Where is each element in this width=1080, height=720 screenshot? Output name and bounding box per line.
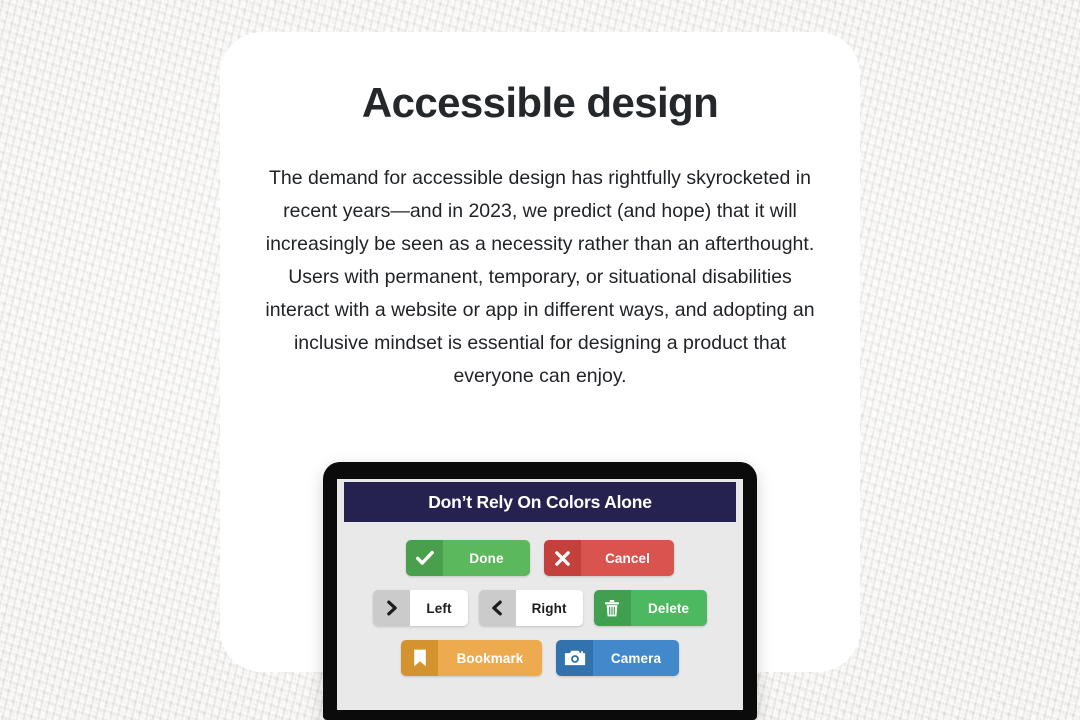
delete-button-label: Delete <box>631 590 707 626</box>
camera-icon <box>556 640 593 676</box>
left-button-label: Left <box>410 590 467 626</box>
page-title: Accessible design <box>220 79 860 127</box>
done-button-label: Done <box>443 540 530 576</box>
right-button[interactable]: Right <box>479 590 583 626</box>
cancel-button-label: Cancel <box>581 540 674 576</box>
demo-header-bar: Don’t Rely On Colors Alone <box>344 482 736 522</box>
body-paragraph: The demand for accessible design has rig… <box>264 162 816 393</box>
camera-button[interactable]: Camera <box>556 640 679 676</box>
chevron-left-icon <box>479 590 516 626</box>
right-button-label: Right <box>516 590 583 626</box>
done-button[interactable]: Done <box>406 540 530 576</box>
trash-icon <box>594 590 631 626</box>
tablet-screen: Don’t Rely On Colors Alone Done <box>337 479 743 710</box>
tablet-device-mockup: Don’t Rely On Colors Alone Done <box>323 462 757 720</box>
left-button[interactable]: Left <box>373 590 467 626</box>
cancel-button[interactable]: Cancel <box>544 540 674 576</box>
bookmark-button-label: Bookmark <box>438 640 542 676</box>
delete-button[interactable]: Delete <box>594 590 707 626</box>
bookmark-button[interactable]: Bookmark <box>401 640 542 676</box>
camera-button-label: Camera <box>593 640 679 676</box>
chevron-right-icon <box>373 590 410 626</box>
demo-header-title: Don’t Rely On Colors Alone <box>428 492 652 513</box>
bookmark-icon <box>401 640 438 676</box>
checkmark-icon <box>406 540 443 576</box>
demo-button-row: Bookmark Camera <box>337 640 743 676</box>
x-mark-icon <box>544 540 581 576</box>
demo-button-row: Done Cancel <box>337 540 743 576</box>
demo-button-area: Done Cancel <box>337 522 743 710</box>
demo-button-row: Left Right <box>337 590 743 626</box>
